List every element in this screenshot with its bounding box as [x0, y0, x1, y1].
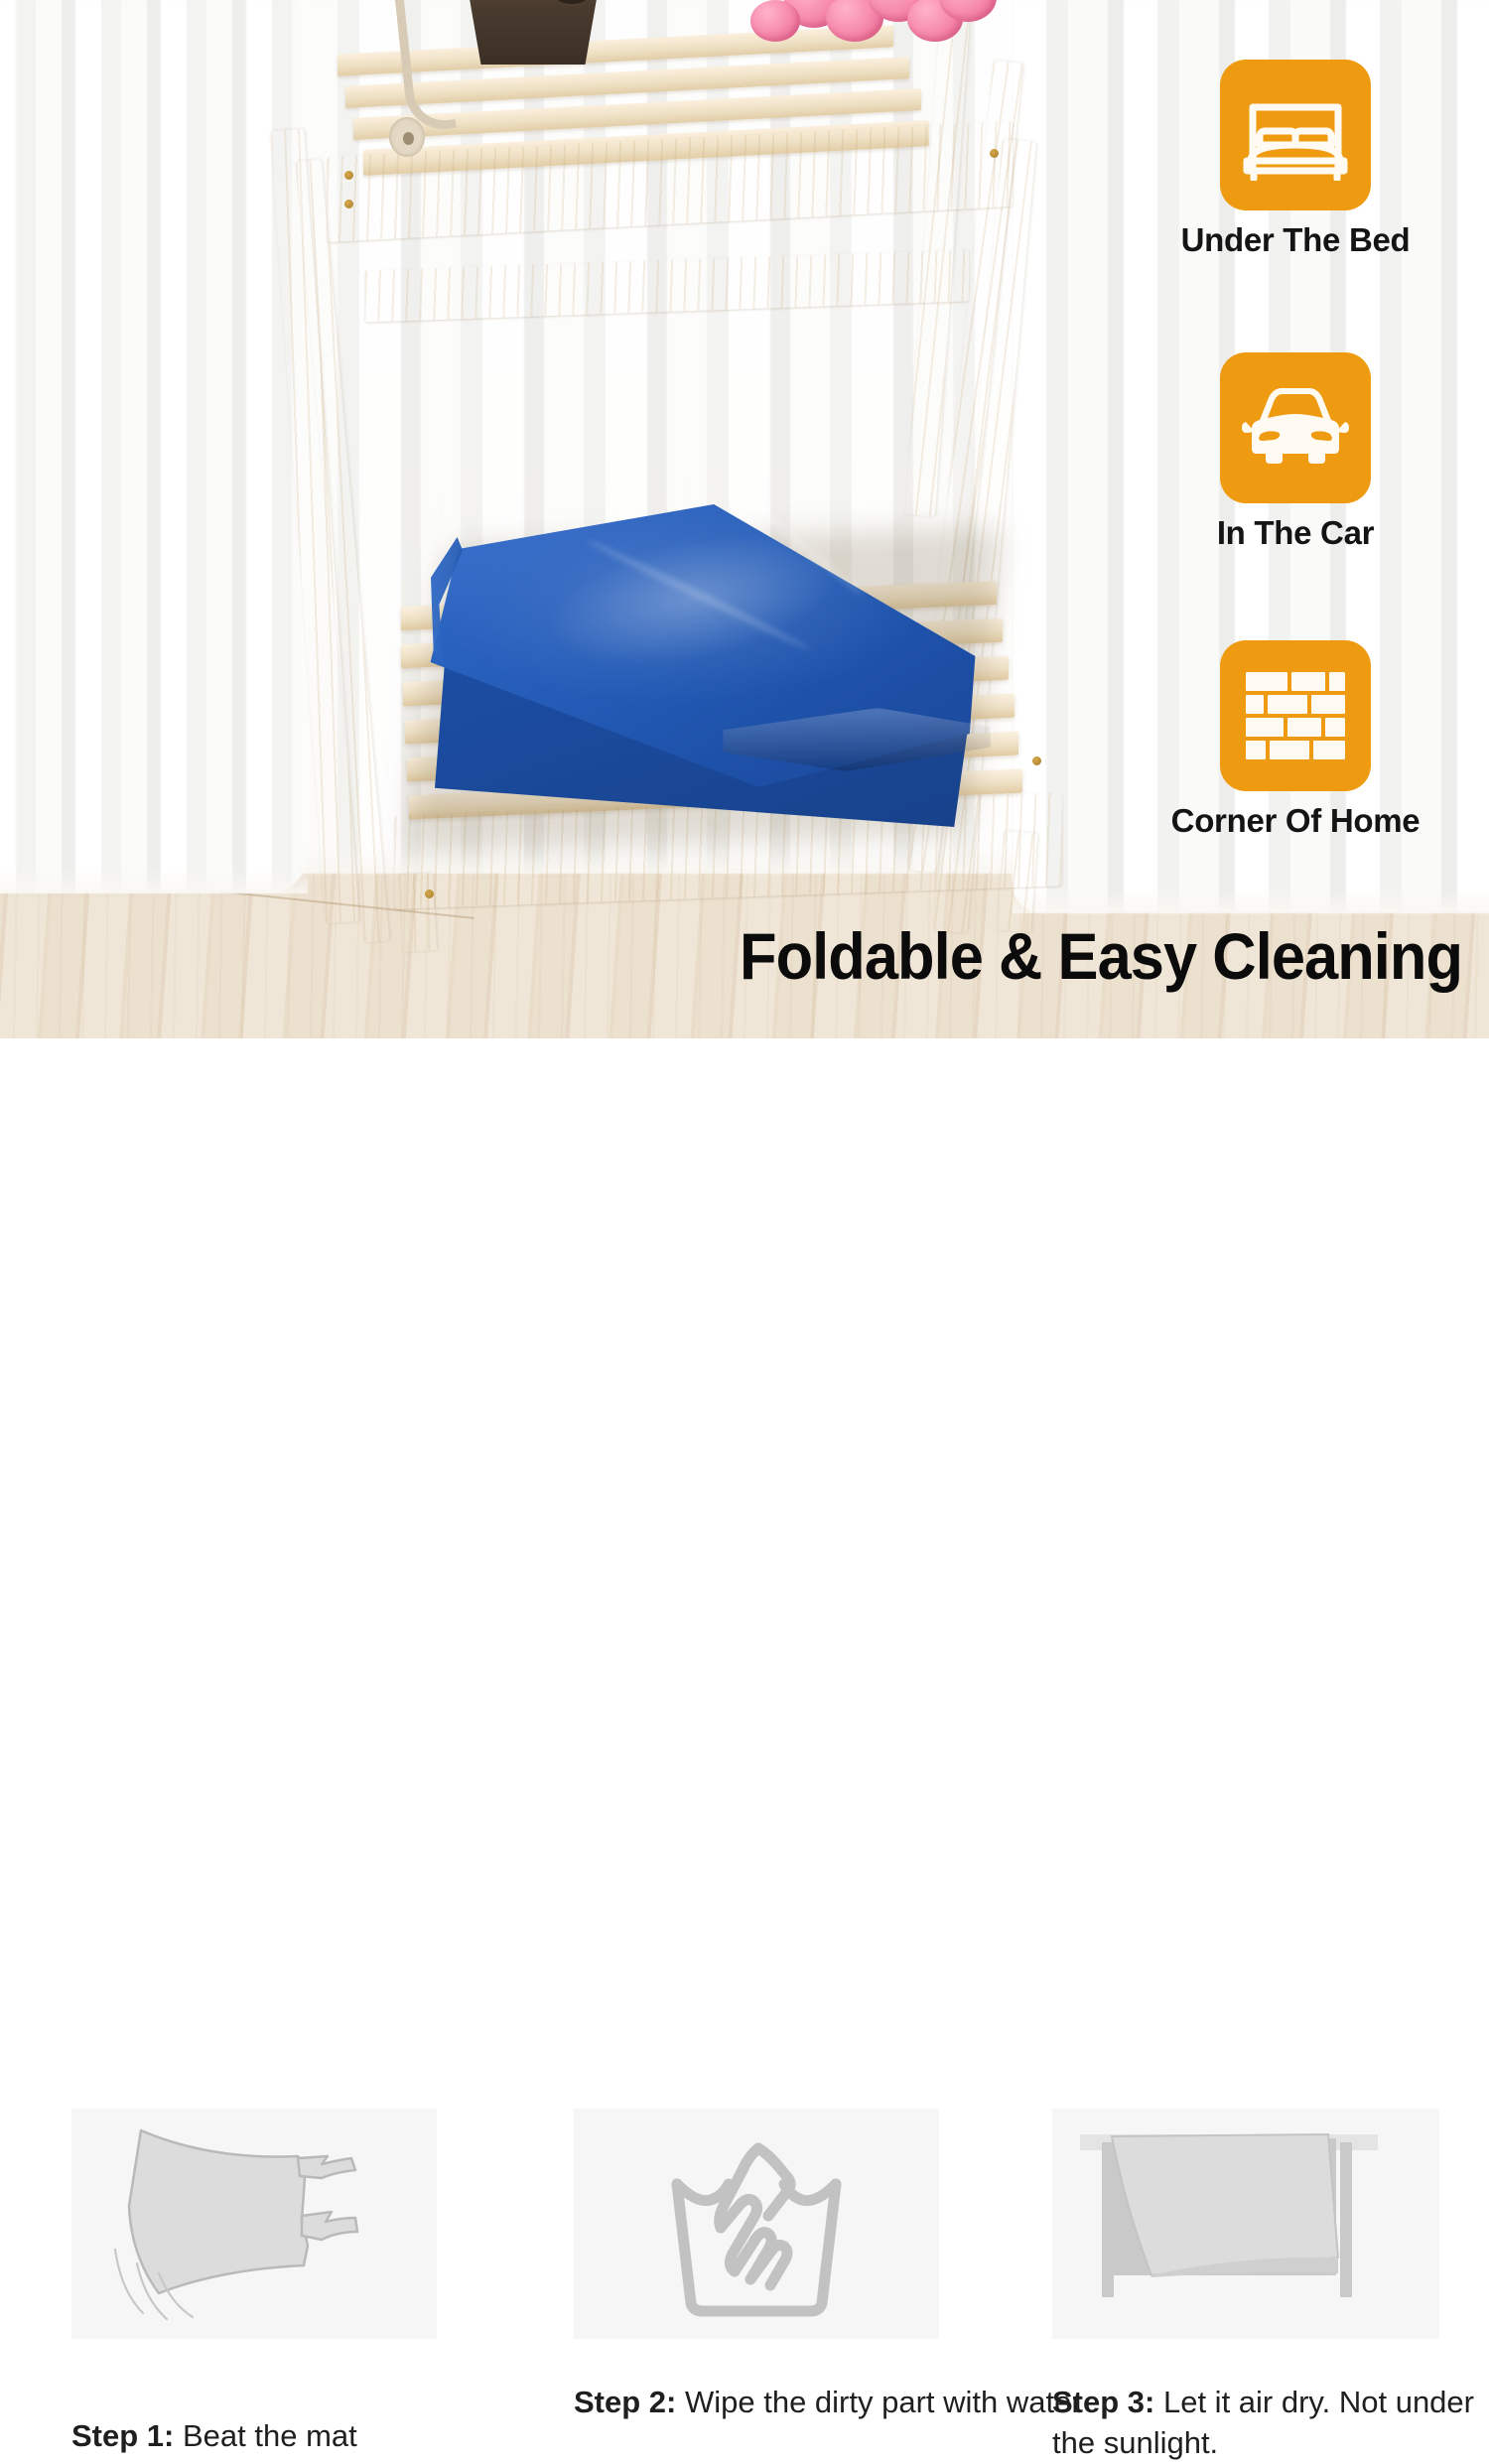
car-icon-tile [1220, 352, 1371, 503]
blue-folded-mat [425, 501, 981, 829]
care-step-3: Step 3: Let it air dry. Not under the su… [1052, 2109, 1489, 2464]
shelf-screw [344, 171, 353, 180]
feature-corner-of-home: Corner Of Home [1220, 640, 1450, 840]
curtain-hem [1013, 888, 1489, 913]
step-3-label: Step 3: [1052, 2385, 1154, 2419]
bed-icon-tile [1220, 60, 1371, 210]
car-icon [1242, 386, 1349, 470]
beating-mat-icon [71, 2109, 437, 2339]
step-2-instruction: Wipe the dirty part with water [676, 2385, 1081, 2419]
step-1-caption: Step 1: Beat the mat [71, 2416, 437, 2457]
feature-under-the-bed: Under The Bed [1220, 60, 1460, 259]
product-infographic: Under The Bed In The Car [0, 0, 1489, 1489]
plant-pot [459, 0, 608, 65]
feature-label: Corner Of Home [1141, 802, 1450, 840]
feature-label: Under The Bed [1131, 221, 1460, 259]
care-step-2: Step 2: Wipe the dirty part with water [574, 2109, 1082, 2423]
hero-product-photo: Under The Bed In The Car [0, 0, 1489, 1038]
feature-in-the-car: In The Car [1220, 352, 1440, 552]
pink-rope-decor [750, 0, 800, 42]
step-3-caption: Step 3: Let it air dry. Not under the su… [1052, 2383, 1489, 2464]
step-2-caption: Step 2: Wipe the dirty part with water [574, 2383, 1082, 2423]
step-1-illustration-box [71, 2109, 437, 2339]
step-2-illustration-box [574, 2109, 939, 2339]
shelf-foot-right [998, 831, 1038, 932]
step-1-instruction: Beat the mat [174, 2418, 356, 2453]
brick-wall-icon [1244, 670, 1347, 761]
hand-wash-basin-icon [574, 2109, 939, 2339]
bed-icon [1243, 89, 1348, 181]
shelf-screw [344, 200, 353, 208]
air-dry-rack-icon [1052, 2109, 1439, 2339]
hero-headline: Foldable & Easy Cleaning [740, 918, 1427, 994]
step-3-illustration-box [1052, 2109, 1439, 2339]
care-step-1: Step 1: Beat the mat [71, 2109, 437, 2457]
shelf-screw [990, 149, 999, 158]
care-instructions-panel: Step 1: Beat the mat [0, 1038, 1489, 1489]
rope-hole [403, 132, 414, 145]
step-1-label: Step 1: [71, 2418, 174, 2453]
curtain-left [0, 0, 308, 893]
shelf-screw [1032, 756, 1041, 765]
curtain-hem [0, 868, 308, 893]
feature-label: In The Car [1151, 514, 1440, 552]
step-2-label: Step 2: [574, 2385, 676, 2419]
shelf-foot-left [399, 873, 437, 952]
brick-wall-icon-tile [1220, 640, 1371, 791]
